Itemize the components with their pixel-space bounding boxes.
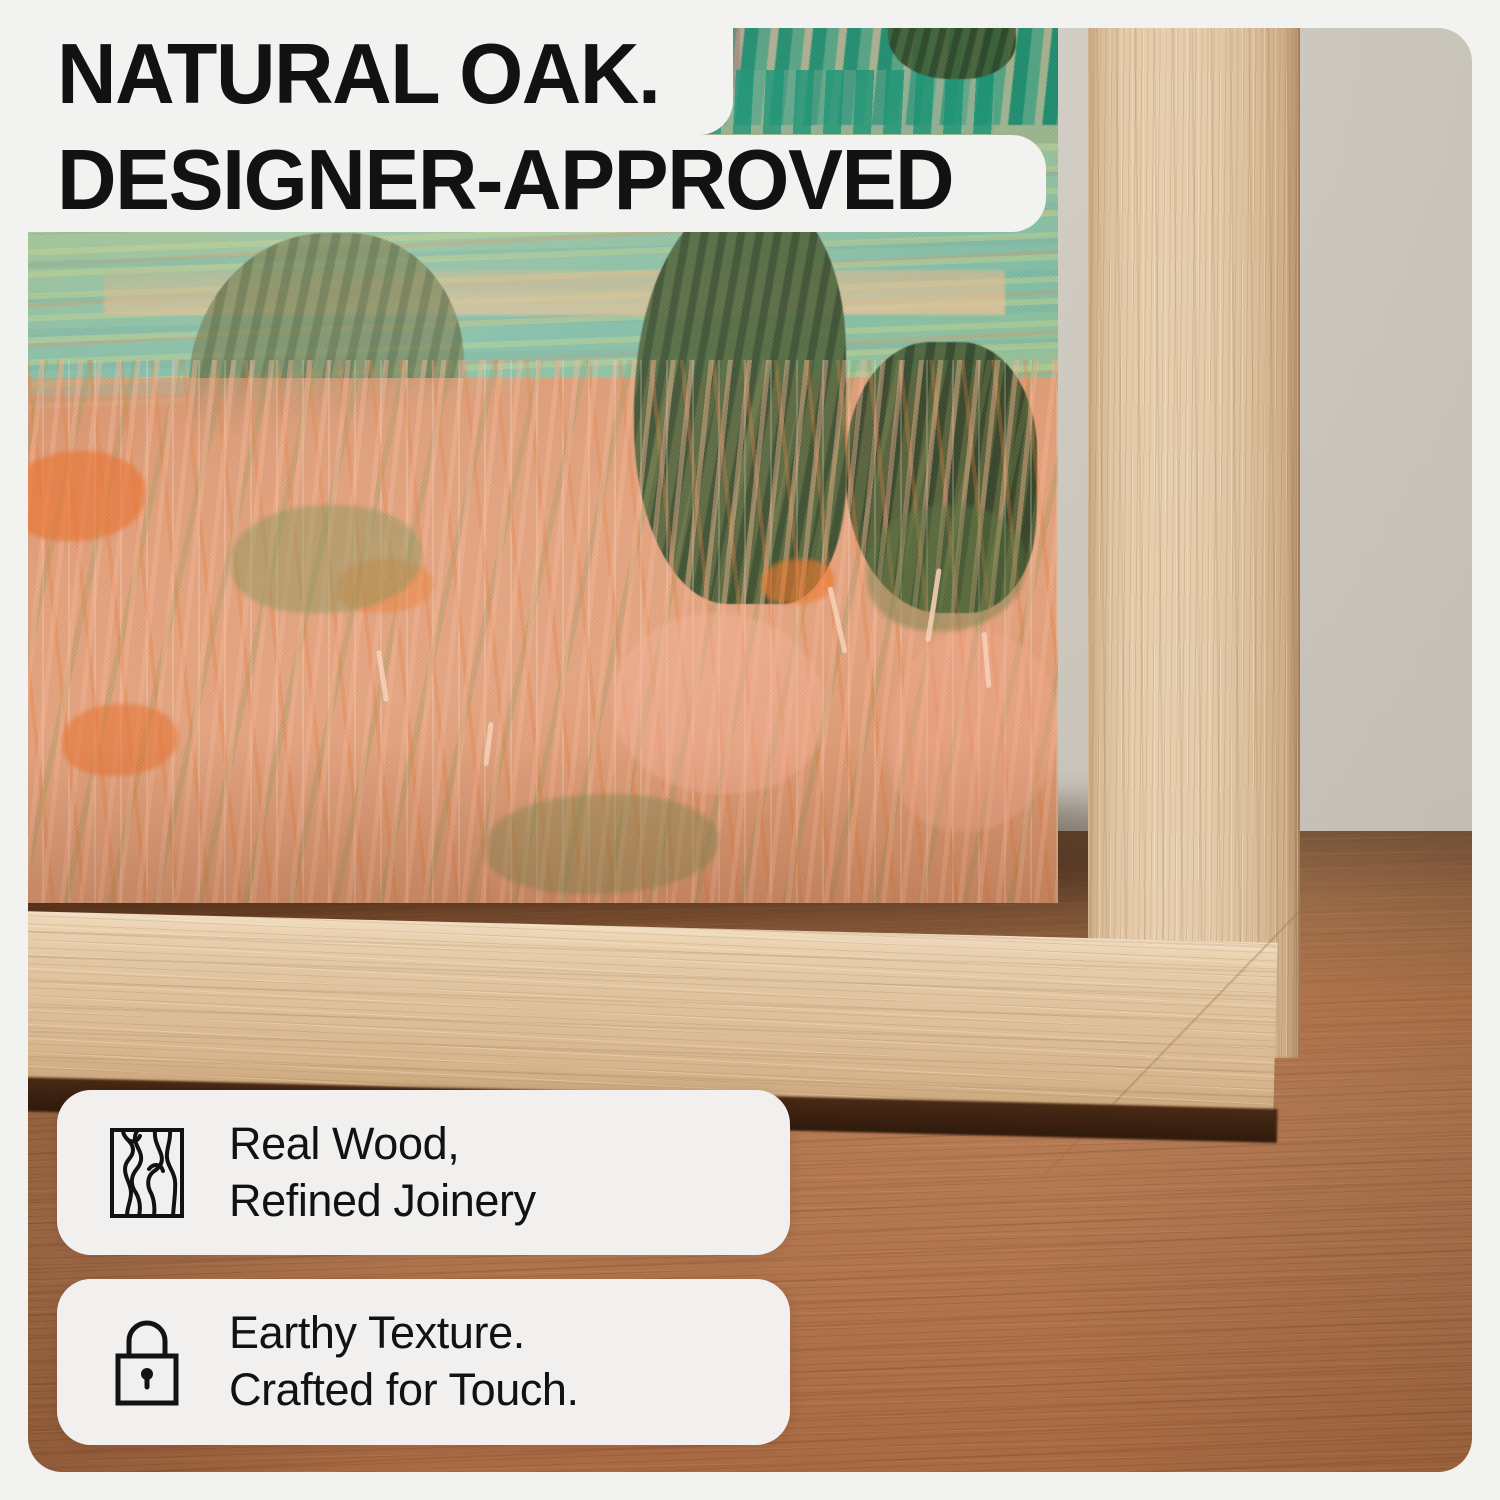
padlock-icon [101, 1314, 193, 1410]
oak-picture-frame [28, 28, 1300, 1106]
artwork-vignette [28, 28, 1058, 903]
product-feature-image: NATURAL OAK. DESIGNER-APPROVED [0, 0, 1500, 1500]
feature-badge-earthy-texture: Earthy Texture. Crafted for Touch. [57, 1279, 790, 1444]
artwork-canvas [28, 28, 1058, 903]
wood-grain-icon [101, 1125, 193, 1221]
feature-badge-real-wood: Real Wood, Refined Joinery [57, 1090, 790, 1255]
feature-badge-label: Real Wood, Refined Joinery [229, 1116, 536, 1229]
feature-badge-list: Real Wood, Refined Joinery Earthy Textur… [57, 1090, 790, 1445]
feature-badge-label: Earthy Texture. Crafted for Touch. [229, 1305, 579, 1418]
